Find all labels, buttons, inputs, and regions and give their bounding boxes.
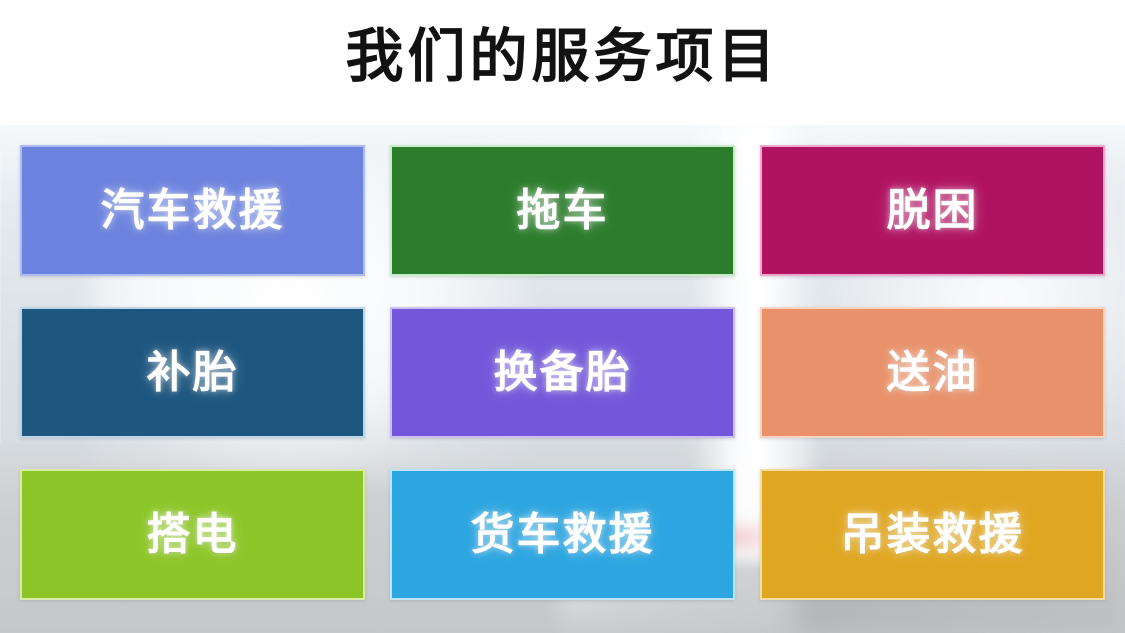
service-tile-label: 货车救援 (471, 513, 655, 557)
service-tile-label: 补胎 (147, 351, 239, 395)
tile-crane-rescue[interactable]: 吊装救援 (760, 469, 1105, 600)
service-tile-label: 拖车 (517, 189, 609, 233)
tile-jump-start[interactable]: 搭电 (20, 469, 365, 600)
service-tile-label: 吊装救援 (841, 513, 1025, 557)
tile-fuel-delivery[interactable]: 送油 (760, 307, 1105, 438)
poster-header: 我们的服务项目 (0, 0, 1125, 125)
service-tile-label: 换备胎 (494, 351, 632, 395)
service-items-poster: 我们的服务项目 汽车救援拖车脱困补胎换备胎送油搭电货车救援吊装救援 (0, 0, 1125, 633)
tile-truck-rescue[interactable]: 货车救援 (390, 469, 735, 600)
service-tile-grid: 汽车救援拖车脱困补胎换备胎送油搭电货车救援吊装救援 (20, 145, 1105, 600)
service-tile-label: 搭电 (147, 513, 239, 557)
tile-towing[interactable]: 拖车 (390, 145, 735, 276)
page-title: 我们的服务项目 (0, 20, 1125, 92)
tile-car-rescue[interactable]: 汽车救援 (20, 145, 365, 276)
service-tile-label: 汽车救援 (101, 189, 285, 233)
tile-tire-repair[interactable]: 补胎 (20, 307, 365, 438)
service-tile-label: 送油 (887, 351, 979, 395)
service-tile-label: 脱困 (887, 189, 979, 233)
tile-extrication[interactable]: 脱困 (760, 145, 1105, 276)
tile-spare-tire[interactable]: 换备胎 (390, 307, 735, 438)
